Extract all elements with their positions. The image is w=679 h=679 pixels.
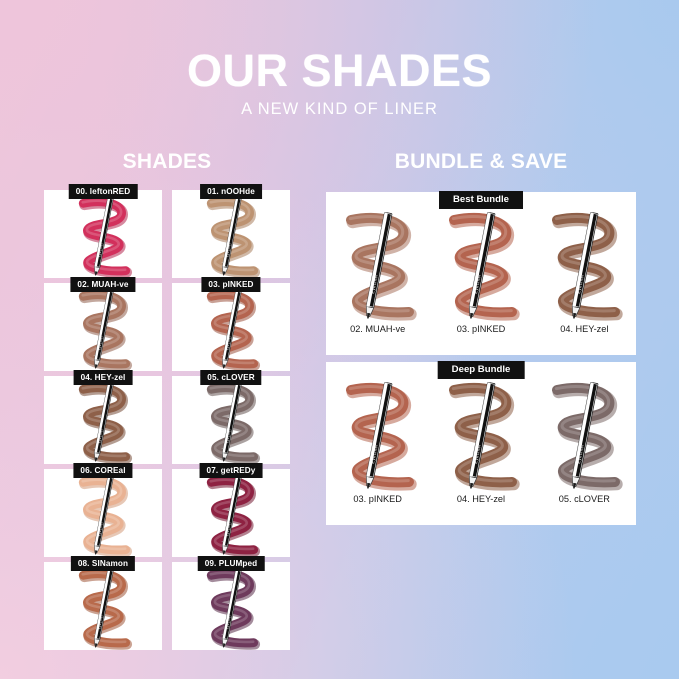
shade-card[interactable]: 06. COREal EyeLiner <box>44 469 162 557</box>
bundle-badge: Deep Bundle <box>438 361 525 379</box>
pencil-icon: EyeLiner <box>433 210 529 322</box>
bundle-item[interactable]: EyeLiner 03. pINKED <box>433 210 529 334</box>
shade-artwork: EyeLiner <box>44 289 162 371</box>
bundle-item-label: 03. pINKED <box>433 324 529 334</box>
shade-label-badge: 08. SINamon <box>71 556 135 571</box>
shade-label-badge: 09. PLUMped <box>198 556 265 571</box>
shade-label-badge: 04. HEY-zel <box>74 370 133 385</box>
bundle-section-heading: BUNDLE & SAVE <box>326 150 636 174</box>
shade-card[interactable]: 03. pINKED EyeLiner <box>172 283 290 371</box>
bundle-panel-best[interactable]: Best Bundle EyeLiner 02. MUAH-ve <box>326 192 636 355</box>
bundle-item-label: 03. pINKED <box>330 494 426 504</box>
page-title: OUR SHADES <box>0 48 679 93</box>
pencil-layer: EyeLiner <box>172 475 290 557</box>
page-header: OUR SHADES A NEW KIND OF LINER <box>0 48 679 119</box>
pencil-icon: EyeLiner <box>536 380 632 492</box>
pencil-icon: EyeLiner <box>44 196 162 278</box>
bundle-panel-deep[interactable]: Deep Bundle EyeLiner 03. pINKED <box>326 362 636 525</box>
shade-artwork: EyeLiner <box>172 196 290 278</box>
shade-artwork: EyeLiner <box>44 382 162 464</box>
pencil-icon: EyeLiner <box>44 475 162 557</box>
shade-card[interactable]: 01. nOOHde EyeLiner <box>172 190 290 278</box>
shade-card[interactable]: 08. SINamon EyeLiner <box>44 562 162 650</box>
bundle-item-row: EyeLiner 03. pINKED EyeLiner <box>326 380 636 525</box>
pencil-layer: EyeLiner <box>44 475 162 557</box>
shade-artwork: EyeLiner <box>44 475 162 557</box>
bundle-badge: Best Bundle <box>439 191 523 209</box>
pencil-layer: EyeLiner <box>433 210 529 322</box>
bundle-artwork: EyeLiner <box>433 210 529 322</box>
shade-artwork: EyeLiner <box>44 196 162 278</box>
pencil-icon: EyeLiner <box>172 289 290 371</box>
bundle-artwork: EyeLiner <box>330 380 426 492</box>
shade-label-badge: 01. nOOHde <box>200 184 262 199</box>
pencil-layer: EyeLiner <box>433 380 529 492</box>
shade-artwork: EyeLiner <box>172 382 290 464</box>
pencil-icon: EyeLiner <box>172 196 290 278</box>
shade-card[interactable]: 04. HEY-zel EyeLiner <box>44 376 162 464</box>
pencil-layer: EyeLiner <box>330 380 426 492</box>
pencil-icon: EyeLiner <box>44 289 162 371</box>
pencil-layer: EyeLiner <box>330 210 426 322</box>
pencil-layer: EyeLiner <box>536 210 632 322</box>
bundle-artwork: EyeLiner <box>330 210 426 322</box>
bundle-artwork: EyeLiner <box>536 380 632 492</box>
pencil-icon: EyeLiner <box>44 568 162 650</box>
pencil-icon: EyeLiner <box>172 475 290 557</box>
bundle-item[interactable]: EyeLiner 04. HEY-zel <box>433 380 529 504</box>
shade-card[interactable]: 09. PLUMped EyeLiner <box>172 562 290 650</box>
shade-card[interactable]: 07. getREDy EyeLiner <box>172 469 290 557</box>
pencil-icon: EyeLiner <box>536 210 632 322</box>
bundle-item-label: 04. HEY-zel <box>433 494 529 504</box>
shade-label-badge: 00. leftonRED <box>69 184 138 199</box>
pencil-layer: EyeLiner <box>44 568 162 650</box>
pencil-icon: EyeLiner <box>330 210 426 322</box>
shade-artwork: EyeLiner <box>172 475 290 557</box>
pencil-icon: EyeLiner <box>44 382 162 464</box>
shade-label-badge: 02. MUAH-ve <box>70 277 135 292</box>
shade-card[interactable]: 02. MUAH-ve EyeLiner <box>44 283 162 371</box>
pencil-layer: EyeLiner <box>172 568 290 650</box>
bundle-item[interactable]: EyeLiner 05. cLOVER <box>536 380 632 504</box>
bundle-item-row: EyeLiner 02. MUAH-ve EyeLiner <box>326 210 636 355</box>
shade-label-badge: 06. COREal <box>73 463 132 478</box>
pencil-icon: EyeLiner <box>330 380 426 492</box>
shade-artwork: EyeLiner <box>172 568 290 650</box>
shade-artwork: EyeLiner <box>172 289 290 371</box>
bundle-item-label: 04. HEY-zel <box>536 324 632 334</box>
pencil-layer: EyeLiner <box>172 196 290 278</box>
bundle-item-label: 05. cLOVER <box>536 494 632 504</box>
shade-artwork: EyeLiner <box>44 568 162 650</box>
bundle-artwork: EyeLiner <box>536 210 632 322</box>
pencil-layer: EyeLiner <box>44 289 162 371</box>
pencil-layer: EyeLiner <box>44 382 162 464</box>
pencil-layer: EyeLiner <box>172 382 290 464</box>
shade-label-badge: 03. pINKED <box>201 277 260 292</box>
shades-grid: 00. leftonRED EyeLiner 01. nOOHde <box>44 190 290 650</box>
shade-card[interactable]: 00. leftonRED EyeLiner <box>44 190 162 278</box>
bundle-item[interactable]: EyeLiner 03. pINKED <box>330 380 426 504</box>
bundle-artwork: EyeLiner <box>433 380 529 492</box>
pencil-icon: EyeLiner <box>433 380 529 492</box>
shade-card[interactable]: 05. cLOVER EyeLiner <box>172 376 290 464</box>
shade-label-badge: 07. getREDy <box>200 463 263 478</box>
shade-label-badge: 05. cLOVER <box>200 370 261 385</box>
pencil-icon: EyeLiner <box>172 568 290 650</box>
pencil-layer: EyeLiner <box>172 289 290 371</box>
page-subtitle: A NEW KIND OF LINER <box>0 100 679 119</box>
bundle-item[interactable]: EyeLiner 04. HEY-zel <box>536 210 632 334</box>
bundle-item-label: 02. MUAH-ve <box>330 324 426 334</box>
bundle-item[interactable]: EyeLiner 02. MUAH-ve <box>330 210 426 334</box>
pencil-layer: EyeLiner <box>536 380 632 492</box>
shades-section-heading: SHADES <box>44 150 290 174</box>
pencil-layer: EyeLiner <box>44 196 162 278</box>
pencil-icon: EyeLiner <box>172 382 290 464</box>
